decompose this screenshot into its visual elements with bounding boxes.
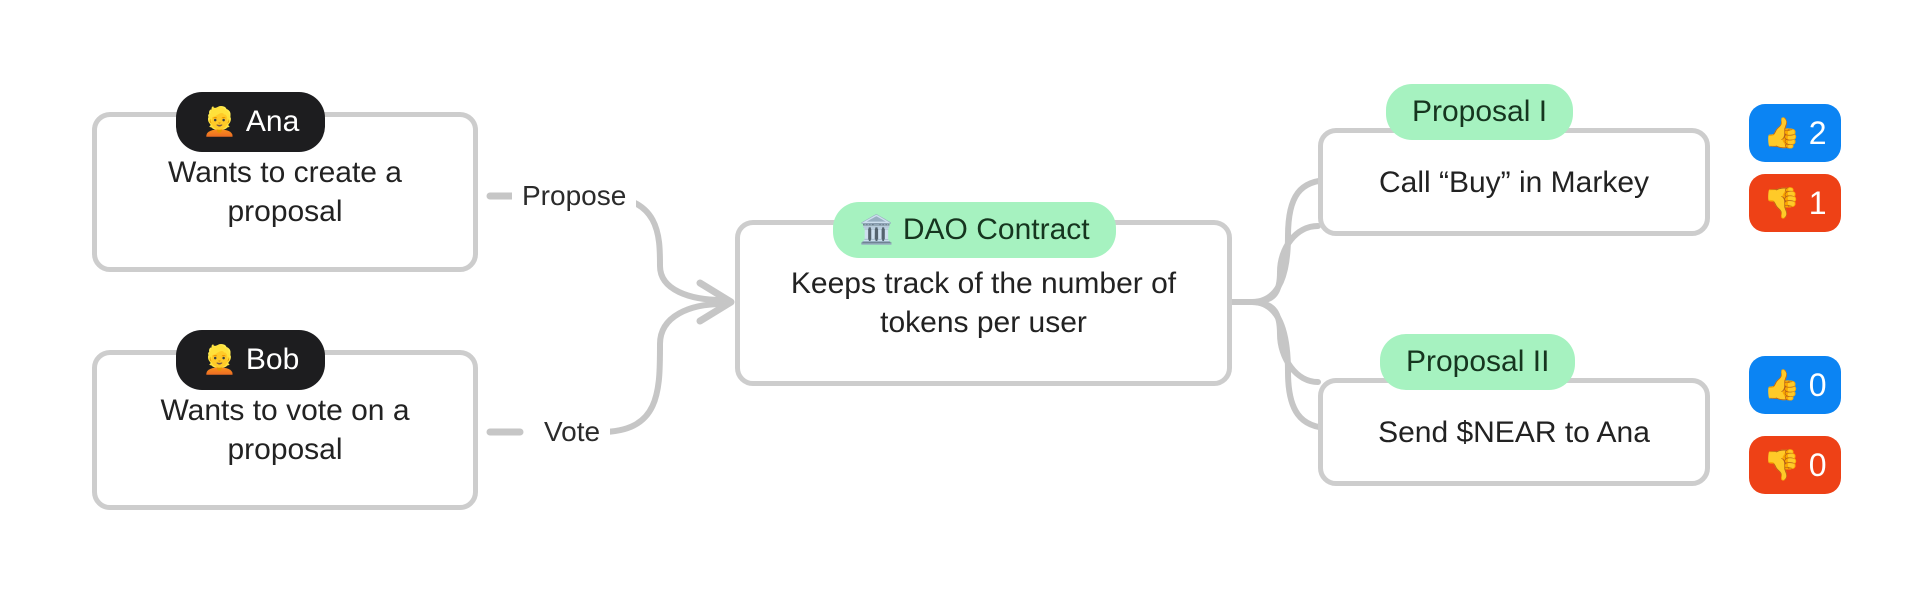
- thumbs-down-icon: 👎: [1763, 186, 1800, 221]
- proposal-pill-1[interactable]: Proposal I: [1386, 84, 1573, 140]
- proposal-2-upvote-count: 0: [1809, 367, 1827, 404]
- proposal-pill-1-label: Proposal I: [1412, 97, 1547, 127]
- actor-pill-bob-label: Bob: [246, 345, 299, 375]
- proposal-1-upvote-badge[interactable]: 👍 2: [1749, 104, 1841, 162]
- thumbs-up-icon: 👍: [1763, 368, 1800, 403]
- diagram-canvas: Wants to create a proposal 👱 Ana Wants t…: [0, 0, 1906, 608]
- proposal-1-downvote-badge[interactable]: 👎 1: [1749, 174, 1841, 232]
- proposal-2-upvote-badge[interactable]: 👍 0: [1749, 356, 1841, 414]
- classical-building-icon: 🏛️: [859, 216, 894, 244]
- contract-pill-dao[interactable]: 🏛️ DAO Contract: [833, 202, 1116, 258]
- proposal-2-description: Send $NEAR to Ana: [1323, 413, 1705, 452]
- actor-pill-bob[interactable]: 👱 Bob: [176, 330, 325, 390]
- actor-bob-description: Wants to vote on a proposal: [97, 391, 473, 469]
- edge-label-vote: Vote: [534, 416, 610, 448]
- actor-ana-description: Wants to create a proposal: [97, 153, 473, 231]
- thumbs-down-icon: 👎: [1763, 448, 1800, 483]
- actor-pill-ana-label: Ana: [246, 107, 299, 137]
- proposal-pill-2-label: Proposal II: [1406, 347, 1549, 377]
- proposal-node-2[interactable]: Send $NEAR to Ana: [1318, 378, 1710, 486]
- person-blond-hair-icon: 👱: [202, 346, 237, 374]
- thumbs-up-icon: 👍: [1763, 116, 1800, 151]
- proposal-1-description: Call “Buy” in Markey: [1323, 163, 1705, 202]
- edge-label-propose: Propose: [512, 180, 636, 212]
- wire-vote: [600, 304, 722, 432]
- proposal-2-downvote-badge[interactable]: 👎 0: [1749, 436, 1841, 494]
- person-blond-hair-icon: 👱: [202, 108, 237, 136]
- edge-label-propose-text: Propose: [522, 180, 626, 211]
- contract-description: Keeps track of the number of tokens per …: [740, 264, 1227, 342]
- actor-pill-ana[interactable]: 👱 Ana: [176, 92, 325, 152]
- proposal-1-upvote-count: 2: [1809, 115, 1827, 152]
- contract-pill-label: DAO Contract: [903, 215, 1090, 245]
- proposal-2-downvote-count: 0: [1809, 447, 1827, 484]
- proposal-node-1[interactable]: Call “Buy” in Markey: [1318, 128, 1710, 236]
- proposal-pill-2[interactable]: Proposal II: [1380, 334, 1575, 390]
- proposal-1-downvote-count: 1: [1809, 185, 1827, 222]
- edge-label-vote-text: Vote: [544, 416, 600, 447]
